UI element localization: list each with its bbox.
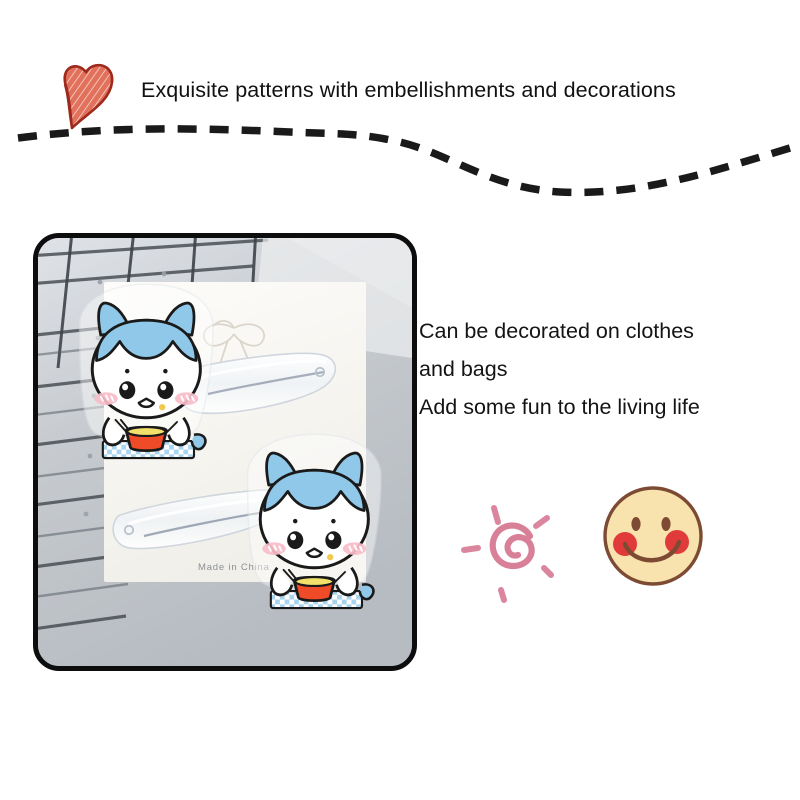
copy-line-2: and bags [419,350,789,388]
smiley-face-icon [597,480,709,592]
copy-line-1: Can be decorated on clothes [419,312,789,350]
product-infographic-page: Exquisite patterns with embellishments a… [0,0,800,800]
sun-icon [452,482,582,612]
dashed-wave-divider [0,112,800,207]
copy-line-3: Add some fun to the living life [419,388,789,426]
page-title: Exquisite patterns with embellishments a… [141,75,791,105]
feature-copy-block: Can be decorated on clothes and bags Add… [419,312,789,426]
product-photo: Made in China [33,233,417,671]
